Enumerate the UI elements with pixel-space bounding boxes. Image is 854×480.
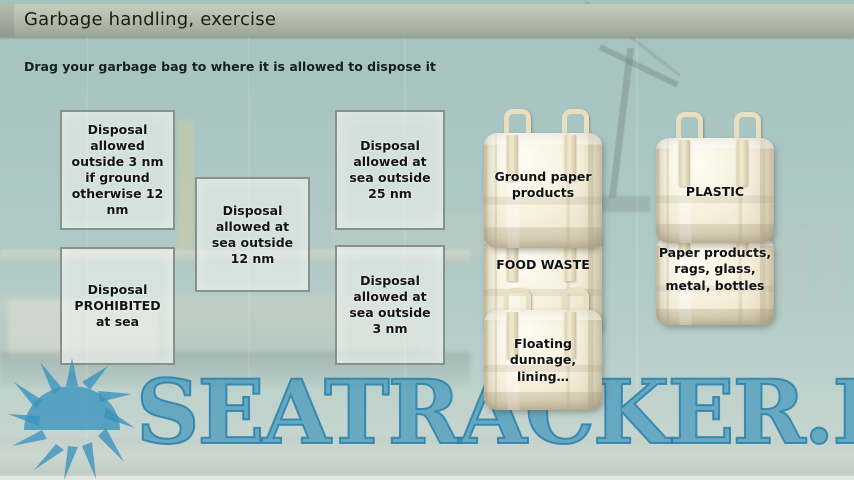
instruction-text: Drag your garbage bag to where it is all…: [24, 59, 436, 74]
background-bottom-edge: [0, 476, 854, 480]
drop-target-label: Disposal allowed at sea outside 3 nm: [343, 273, 437, 337]
bag-label: PLASTIC: [656, 184, 774, 200]
garbage-bag-plastic[interactable]: PLASTIC: [656, 138, 774, 243]
titlebar-left-cap: [0, 4, 14, 37]
background-streak: [404, 36, 406, 440]
background-water-band: [0, 438, 854, 480]
slide-stage: Garbage handling, exercise Drag your gar…: [0, 0, 854, 480]
window-titlebar: Garbage handling, exercise: [0, 4, 854, 37]
bag-label: Paper products, rags, glass, metal, bott…: [656, 245, 774, 294]
crane-base: [596, 196, 650, 212]
drop-target-outside-3nm[interactable]: Disposal allowed at sea outside 3 nm: [335, 245, 445, 365]
page-title: Garbage handling, exercise: [24, 9, 276, 30]
drop-target-outside-25nm[interactable]: Disposal allowed at sea outside 25 nm: [335, 110, 445, 230]
drop-target-label: Disposal allowed outside 3 nm if ground …: [68, 122, 167, 218]
bag-strap: [737, 140, 748, 186]
garbage-bag-mixed-recycle[interactable]: Paper products, rags, glass, metal, bott…: [656, 237, 774, 325]
drop-target-label: Disposal allowed at sea outside 25 nm: [343, 138, 437, 202]
background-yellow-structure: [178, 120, 194, 250]
bag-label: FOOD WASTE: [484, 257, 602, 273]
drop-target-prohibited[interactable]: Disposal PROHIBITED at sea: [60, 247, 175, 365]
drop-target-outside-12nm[interactable]: Disposal allowed at sea outside 12 nm: [195, 177, 310, 292]
bag-label: Ground paper products: [484, 169, 602, 202]
drop-target-outside-3nm-or-12nm[interactable]: Disposal allowed outside 3 nm if ground …: [60, 110, 175, 230]
drop-target-label: Disposal PROHIBITED at sea: [68, 282, 167, 330]
garbage-bag-ground-paper[interactable]: Ground paper products: [484, 133, 602, 248]
background-streak: [86, 36, 88, 440]
bag-strap: [679, 140, 690, 186]
bag-label: Floating dunnage, lining…: [484, 336, 602, 385]
drop-target-label: Disposal allowed at sea outside 12 nm: [203, 203, 302, 267]
garbage-bag-floating-dunnage[interactable]: Floating dunnage, lining…: [484, 310, 602, 410]
background-streak: [636, 36, 638, 440]
